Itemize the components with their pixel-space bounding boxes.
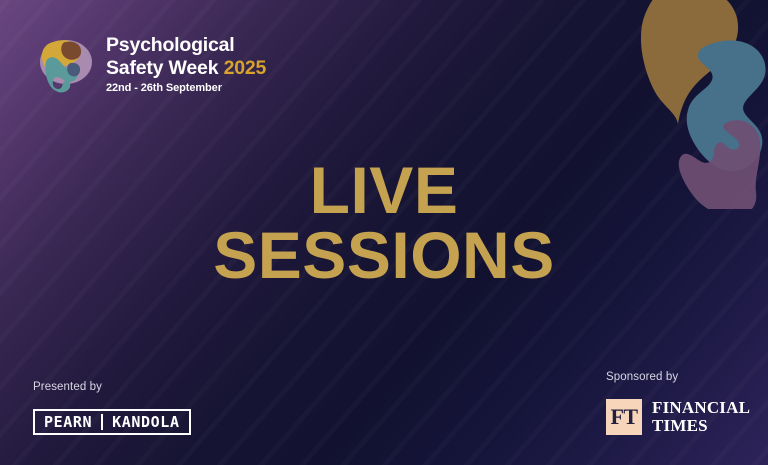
financial-times-logo: FT FINANCIALTIMES — [606, 399, 750, 435]
blob-brown-shape — [641, 0, 738, 124]
ft-name-line-2: TIMES — [652, 416, 708, 435]
headline-line-1: LIVE — [0, 158, 768, 223]
brand-title-line2: Safety Week 2025 — [106, 57, 266, 79]
sponsored-by-block: Sponsored by FT FINANCIALTIMES — [606, 371, 750, 435]
promo-slide: Psychological Safety Week 2025 22nd - 26… — [0, 0, 768, 465]
brand-year: 2025 — [224, 57, 267, 79]
pearn-kandola-logo: PEARN KANDOLA — [33, 409, 191, 435]
blob-teal-shape — [687, 40, 766, 171]
ft-monogram-badge: FT — [606, 399, 642, 435]
financial-times-wordmark: FINANCIALTIMES — [652, 399, 750, 434]
brand-lockup: Psychological Safety Week 2025 22nd - 26… — [33, 33, 266, 95]
sponsored-by-label: Sponsored by — [606, 371, 750, 383]
brand-text-block: Psychological Safety Week 2025 22nd - 26… — [106, 34, 266, 93]
headline-line-2: SESSIONS — [0, 223, 768, 288]
pearn-kandola-word-1: PEARN — [35, 411, 101, 433]
presented-by-label: Presented by — [33, 381, 191, 393]
brain-logo-icon — [33, 33, 95, 95]
page-title: LIVE SESSIONS — [0, 158, 768, 287]
presented-by-block: Presented by PEARN KANDOLA — [33, 381, 191, 435]
pearn-kandola-word-2: KANDOLA — [103, 411, 188, 433]
brand-title-line2-text: Safety Week — [106, 57, 218, 79]
brand-title-line1: Psychological — [106, 34, 266, 56]
ft-name-line-1: FINANCIAL — [652, 398, 750, 417]
brand-dates: 22nd - 26th September — [106, 82, 266, 94]
